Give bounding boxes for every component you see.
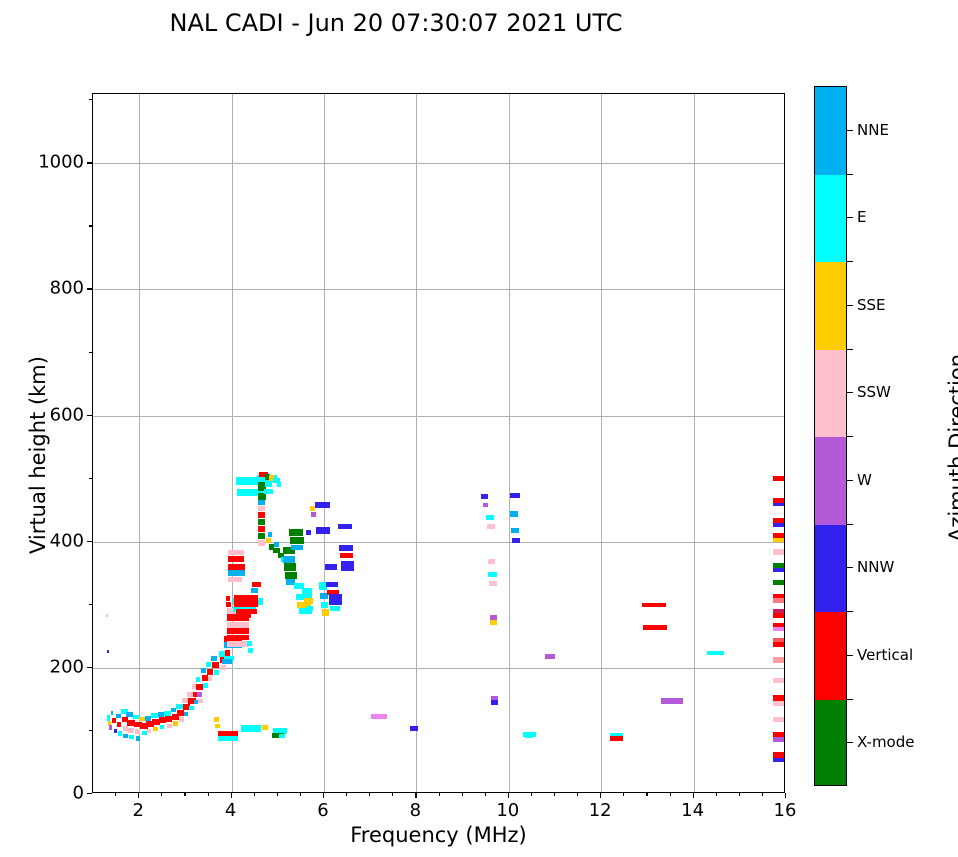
echo-mark <box>116 714 121 718</box>
echo-mark <box>773 518 785 523</box>
echo-mark <box>225 650 230 656</box>
echo-mark <box>773 657 785 663</box>
x-tick-label: 8 <box>410 800 421 821</box>
x-tick-minor <box>554 793 555 796</box>
echo-mark <box>510 493 520 498</box>
x-tick <box>600 793 601 798</box>
x-tick-label: 14 <box>681 800 704 821</box>
x-tick-minor <box>300 793 301 796</box>
echo-mark <box>160 725 165 729</box>
colorbar-tick <box>847 480 853 481</box>
colorbar-label-sse: SSE <box>857 296 886 314</box>
y-tick-label: 0 <box>73 783 84 804</box>
x-tick-minor <box>277 793 278 796</box>
colorbar-segment-ssw <box>815 350 846 438</box>
echo-mark <box>241 725 261 731</box>
echo-mark <box>511 528 519 533</box>
x-tick-label: 2 <box>132 800 143 821</box>
echo-mark <box>153 727 158 731</box>
colorbar-boundary-tick <box>847 699 853 700</box>
echo-mark <box>228 570 245 576</box>
echo-mark <box>290 537 304 544</box>
colorbar-tick <box>847 567 853 568</box>
gridline-vertical <box>694 94 695 792</box>
y-tick <box>87 288 92 289</box>
gridline-horizontal <box>93 289 784 290</box>
y-tick <box>87 793 92 794</box>
x-tick <box>785 793 786 798</box>
echo-mark <box>277 482 282 487</box>
x-tick-label: 16 <box>774 800 797 821</box>
echo-mark <box>112 718 116 723</box>
echo-mark <box>285 572 297 579</box>
echo-mark <box>610 736 624 741</box>
gridline-vertical <box>601 94 602 792</box>
echo-mark <box>289 529 303 536</box>
echo-mark <box>773 580 785 585</box>
y-tick-label: 400 <box>50 530 84 551</box>
y-tick-minor <box>89 478 92 479</box>
echo-mark <box>198 699 203 703</box>
echo-mark <box>226 596 230 600</box>
echo-mark <box>510 511 518 516</box>
colorbar-title: Azimuth Direction <box>945 283 958 613</box>
x-tick <box>323 793 324 798</box>
x-axis-label: Frequency (MHz) <box>92 823 785 847</box>
echo-mark <box>227 641 249 647</box>
x-tick-minor <box>670 793 671 796</box>
echo-mark <box>489 581 496 585</box>
x-tick-minor <box>762 793 763 796</box>
colorbar-boundary-tick <box>847 174 853 175</box>
x-tick-label: 12 <box>589 800 612 821</box>
echo-mark <box>111 711 114 715</box>
echo-mark <box>410 726 418 731</box>
echo-mark <box>258 512 264 518</box>
echo-mark <box>487 524 495 529</box>
echo-mark <box>228 556 244 562</box>
x-tick-minor <box>439 793 440 796</box>
echo-mark <box>330 606 340 612</box>
x-tick-minor <box>485 793 486 796</box>
gridline-horizontal <box>93 163 784 164</box>
x-tick-minor <box>346 793 347 796</box>
echo-mark <box>258 526 264 532</box>
echo-mark <box>316 527 330 533</box>
x-tick-minor <box>739 793 740 796</box>
echo-mark <box>227 628 249 634</box>
echo-mark <box>236 609 256 614</box>
echo-mark <box>227 622 249 628</box>
echo-mark <box>212 662 218 668</box>
gridline-horizontal <box>93 668 784 669</box>
echo-mark <box>545 654 555 659</box>
gridline-vertical <box>139 94 140 792</box>
echo-mark <box>291 545 303 551</box>
echo-mark <box>258 533 264 539</box>
echo-mark <box>338 524 352 530</box>
echo-mark <box>135 729 141 734</box>
gridline-horizontal <box>93 542 784 543</box>
x-tick-minor <box>531 793 532 796</box>
echo-mark <box>661 698 683 704</box>
echo-mark <box>707 651 724 655</box>
colorbar-boundary-tick <box>847 261 853 262</box>
echo-mark <box>136 736 141 740</box>
y-tick <box>87 541 92 542</box>
y-tick-label: 600 <box>50 404 84 425</box>
colorbar-boundary-tick <box>847 436 853 437</box>
colorbar-segment-w <box>815 437 846 525</box>
echo-mark <box>773 737 785 742</box>
echo-mark <box>306 530 311 535</box>
echo-mark <box>339 545 353 551</box>
echo-mark <box>109 725 112 730</box>
colorbar-tick <box>847 392 853 393</box>
echo-mark <box>483 503 489 507</box>
colorbar-tick <box>847 130 853 131</box>
echo-mark <box>491 700 497 705</box>
echo-mark <box>279 734 285 738</box>
y-tick <box>87 415 92 416</box>
colorbar-boundary-tick <box>847 524 853 525</box>
echo-mark <box>773 695 785 701</box>
x-tick <box>231 793 232 798</box>
echo-mark <box>221 665 226 670</box>
x-tick-minor <box>577 793 578 796</box>
y-tick-minor <box>89 99 92 100</box>
colorbar-label-x-mode: X-mode <box>857 733 914 751</box>
echo-mark <box>114 729 117 733</box>
echo-mark <box>773 476 785 481</box>
echo-mark <box>158 712 164 716</box>
x-tick-label: 6 <box>317 800 328 821</box>
echo-mark <box>371 714 387 719</box>
echo-mark <box>211 656 217 662</box>
echo-mark <box>258 500 264 505</box>
echo-mark <box>226 602 231 607</box>
x-tick-minor <box>462 793 463 796</box>
y-tick-minor <box>89 730 92 731</box>
echo-mark <box>773 717 785 723</box>
echo-mark <box>214 670 219 675</box>
echo-mark <box>189 706 194 710</box>
x-tick-label: 4 <box>225 800 236 821</box>
echo-mark <box>215 724 220 728</box>
echo-mark <box>147 729 152 733</box>
colorbar-segment-nnw <box>815 525 846 613</box>
x-tick <box>693 793 694 798</box>
gridline-vertical <box>509 94 510 792</box>
x-tick <box>508 793 509 798</box>
x-tick-minor <box>392 793 393 796</box>
colorbar-boundary-tick <box>847 349 853 350</box>
echo-mark <box>326 582 338 588</box>
echo-mark <box>525 734 532 738</box>
y-axis-label: Virtual height (km) <box>26 295 50 615</box>
echo-mark <box>258 506 264 511</box>
echo-mark <box>201 668 206 673</box>
colorbar-label-ssw: SSW <box>857 383 891 401</box>
echo-mark <box>227 635 249 641</box>
echo-mark <box>197 692 202 697</box>
echo-mark <box>773 701 785 706</box>
y-tick-minor <box>89 604 92 605</box>
echo-mark <box>117 722 121 727</box>
echo-mark <box>340 553 353 558</box>
echo-mark <box>773 594 785 598</box>
echo-mark <box>329 594 343 605</box>
echo-mark <box>773 533 785 538</box>
echo-mark <box>642 603 666 607</box>
colorbar-tick <box>847 305 853 306</box>
echo-mark <box>265 482 272 487</box>
x-tick-minor <box>184 793 185 796</box>
echo-mark <box>773 678 785 684</box>
x-tick-minor <box>208 793 209 796</box>
echo-mark <box>252 582 261 588</box>
x-tick-label: 10 <box>496 800 519 821</box>
gridline-vertical <box>232 94 233 792</box>
echo-mark <box>773 549 785 555</box>
x-tick-minor <box>716 793 717 796</box>
echo-mark <box>773 563 785 568</box>
echo-mark <box>106 614 108 618</box>
echo-mark <box>512 538 520 544</box>
echo-mark <box>248 648 253 653</box>
y-tick <box>87 162 92 163</box>
y-tick-label: 800 <box>50 278 84 299</box>
colorbar-tick <box>847 655 853 656</box>
chart-title: NAL CADI - Jun 20 07:30:07 2021 UTC <box>0 9 792 37</box>
echo-mark <box>133 715 139 719</box>
echo-mark <box>264 489 273 494</box>
x-tick-minor <box>646 793 647 796</box>
echo-mark <box>258 540 264 546</box>
echo-mark <box>283 556 295 562</box>
x-tick-minor <box>254 793 255 796</box>
echo-mark <box>266 538 272 544</box>
echo-mark <box>304 598 313 604</box>
echo-mark <box>228 564 245 570</box>
gridline-vertical <box>324 94 325 792</box>
echo-mark <box>207 669 213 675</box>
echo-mark <box>488 559 495 564</box>
echo-mark <box>490 620 496 625</box>
echo-mark <box>203 683 208 688</box>
echo-mark <box>262 725 268 730</box>
echo-mark <box>341 561 355 571</box>
echo-mark <box>206 662 212 667</box>
colorbar-label-e: E <box>857 208 866 226</box>
echo-mark <box>773 609 785 613</box>
echo-mark <box>773 567 785 572</box>
y-tick-minor <box>89 352 92 353</box>
x-tick-minor <box>161 793 162 796</box>
echo-mark <box>234 614 251 618</box>
azimuth-colorbar <box>814 86 847 786</box>
echo-mark <box>107 650 109 654</box>
colorbar-segment-e <box>815 175 846 263</box>
echo-mark <box>274 542 279 547</box>
echo-mark <box>214 717 219 721</box>
y-tick-label: 200 <box>50 656 84 677</box>
echo-mark <box>321 602 327 608</box>
echo-mark <box>258 519 264 525</box>
echo-mark <box>311 512 316 517</box>
echo-mark <box>208 676 213 681</box>
echo-mark <box>251 588 258 593</box>
y-tick-label: 1000 <box>38 152 84 173</box>
echo-mark <box>325 564 337 571</box>
colorbar-label-nne: NNE <box>857 121 889 139</box>
ionogram-figure: NAL CADI - Jun 20 07:30:07 2021 UTC Freq… <box>0 0 958 857</box>
y-tick-minor <box>89 225 92 226</box>
colorbar-segment-nne <box>815 87 846 175</box>
echo-mark <box>310 506 315 511</box>
gridline-vertical <box>416 94 417 792</box>
echo-mark <box>228 577 242 582</box>
gridline-horizontal <box>93 416 784 417</box>
echo-mark <box>182 698 188 703</box>
echo-mark <box>222 659 231 664</box>
colorbar-label-nnw: NNW <box>857 558 894 576</box>
colorbar-boundary-tick <box>847 611 853 612</box>
plot-axes <box>92 93 785 793</box>
echo-mark <box>129 735 134 739</box>
echo-mark <box>322 609 328 615</box>
echo-mark <box>123 734 128 738</box>
echo-mark <box>773 623 785 627</box>
echo-mark <box>228 550 244 556</box>
x-tick-minor <box>623 793 624 796</box>
echo-mark <box>218 736 238 741</box>
echo-mark <box>253 600 258 605</box>
echo-mark <box>118 731 122 735</box>
echo-mark <box>481 494 487 498</box>
echo-mark <box>315 502 330 508</box>
x-tick-minor <box>115 793 116 796</box>
echo-mark <box>196 677 201 682</box>
plot-surface <box>93 94 784 792</box>
echo-mark <box>167 724 172 728</box>
echo-mark <box>486 515 494 520</box>
echo-mark <box>773 638 785 642</box>
colorbar-label-w: W <box>857 471 872 489</box>
x-tick <box>415 793 416 798</box>
colorbar-label-vertical: Vertical <box>857 646 913 664</box>
echo-mark <box>179 717 184 721</box>
colorbar-segment-x-mode <box>815 700 846 787</box>
colorbar-tick <box>847 742 853 743</box>
echo-mark <box>306 606 313 612</box>
echo-mark <box>247 641 252 646</box>
echo-mark <box>284 563 296 571</box>
y-tick <box>87 667 92 668</box>
x-tick-minor <box>369 793 370 796</box>
colorbar-tick <box>847 217 853 218</box>
colorbar-segment-sse <box>815 262 846 350</box>
echo-mark <box>184 712 189 716</box>
echo-mark <box>173 721 178 725</box>
echo-mark <box>488 572 496 578</box>
echo-mark <box>258 493 265 500</box>
echo-mark <box>302 588 312 594</box>
x-tick <box>138 793 139 798</box>
colorbar-segment-vertical <box>815 612 846 700</box>
echo-mark <box>643 625 667 629</box>
echo-mark <box>268 532 273 537</box>
echo-mark <box>773 498 785 503</box>
echo-mark <box>773 758 785 762</box>
echo-mark <box>128 728 134 733</box>
